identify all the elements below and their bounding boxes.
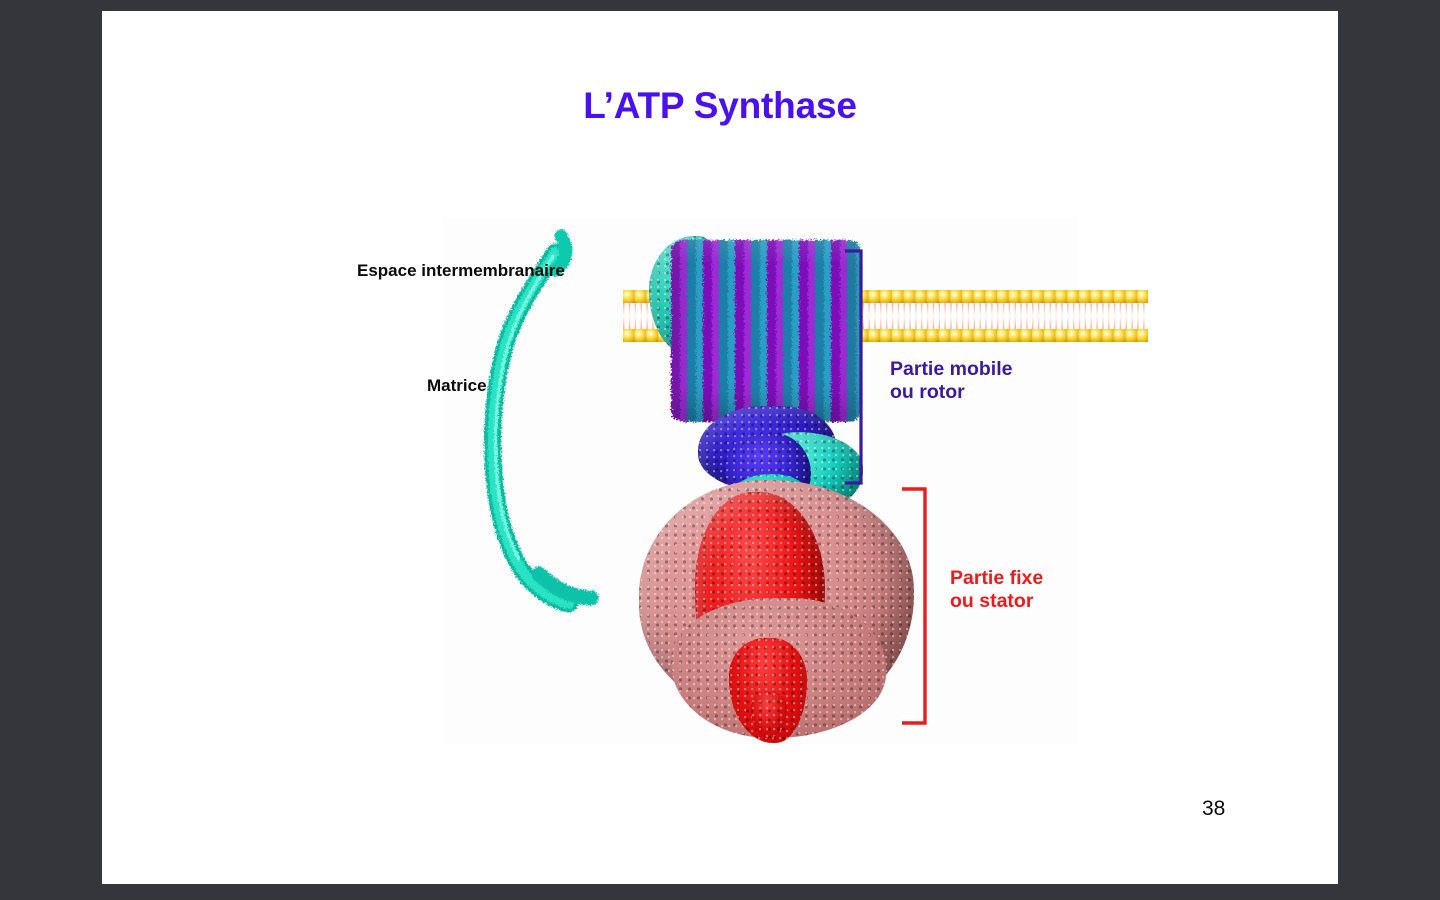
label-rotor-line2: ou rotor <box>890 381 1012 404</box>
page-title: L’ATP Synthase <box>102 85 1338 127</box>
rotor-bracket <box>843 249 865 485</box>
label-stator: Partie fixe ou stator <box>950 567 1043 613</box>
label-stator-line2: ou stator <box>950 590 1043 613</box>
stator-bracket <box>899 486 929 726</box>
label-rotor-line1: Partie mobile <box>890 358 1012 381</box>
c-ring-membrane-sector <box>671 240 861 422</box>
atp-synthase-figure <box>443 218 1078 744</box>
label-intermembrane-space: Espace intermembranaire <box>357 261 565 281</box>
label-matrix: Matrice <box>427 376 487 396</box>
presentation-slide: L’ATP Synthase <box>102 11 1338 884</box>
label-rotor: Partie mobile ou rotor <box>890 358 1012 404</box>
label-stator-line1: Partie fixe <box>950 567 1043 590</box>
slide-number: 38 <box>1202 797 1225 821</box>
